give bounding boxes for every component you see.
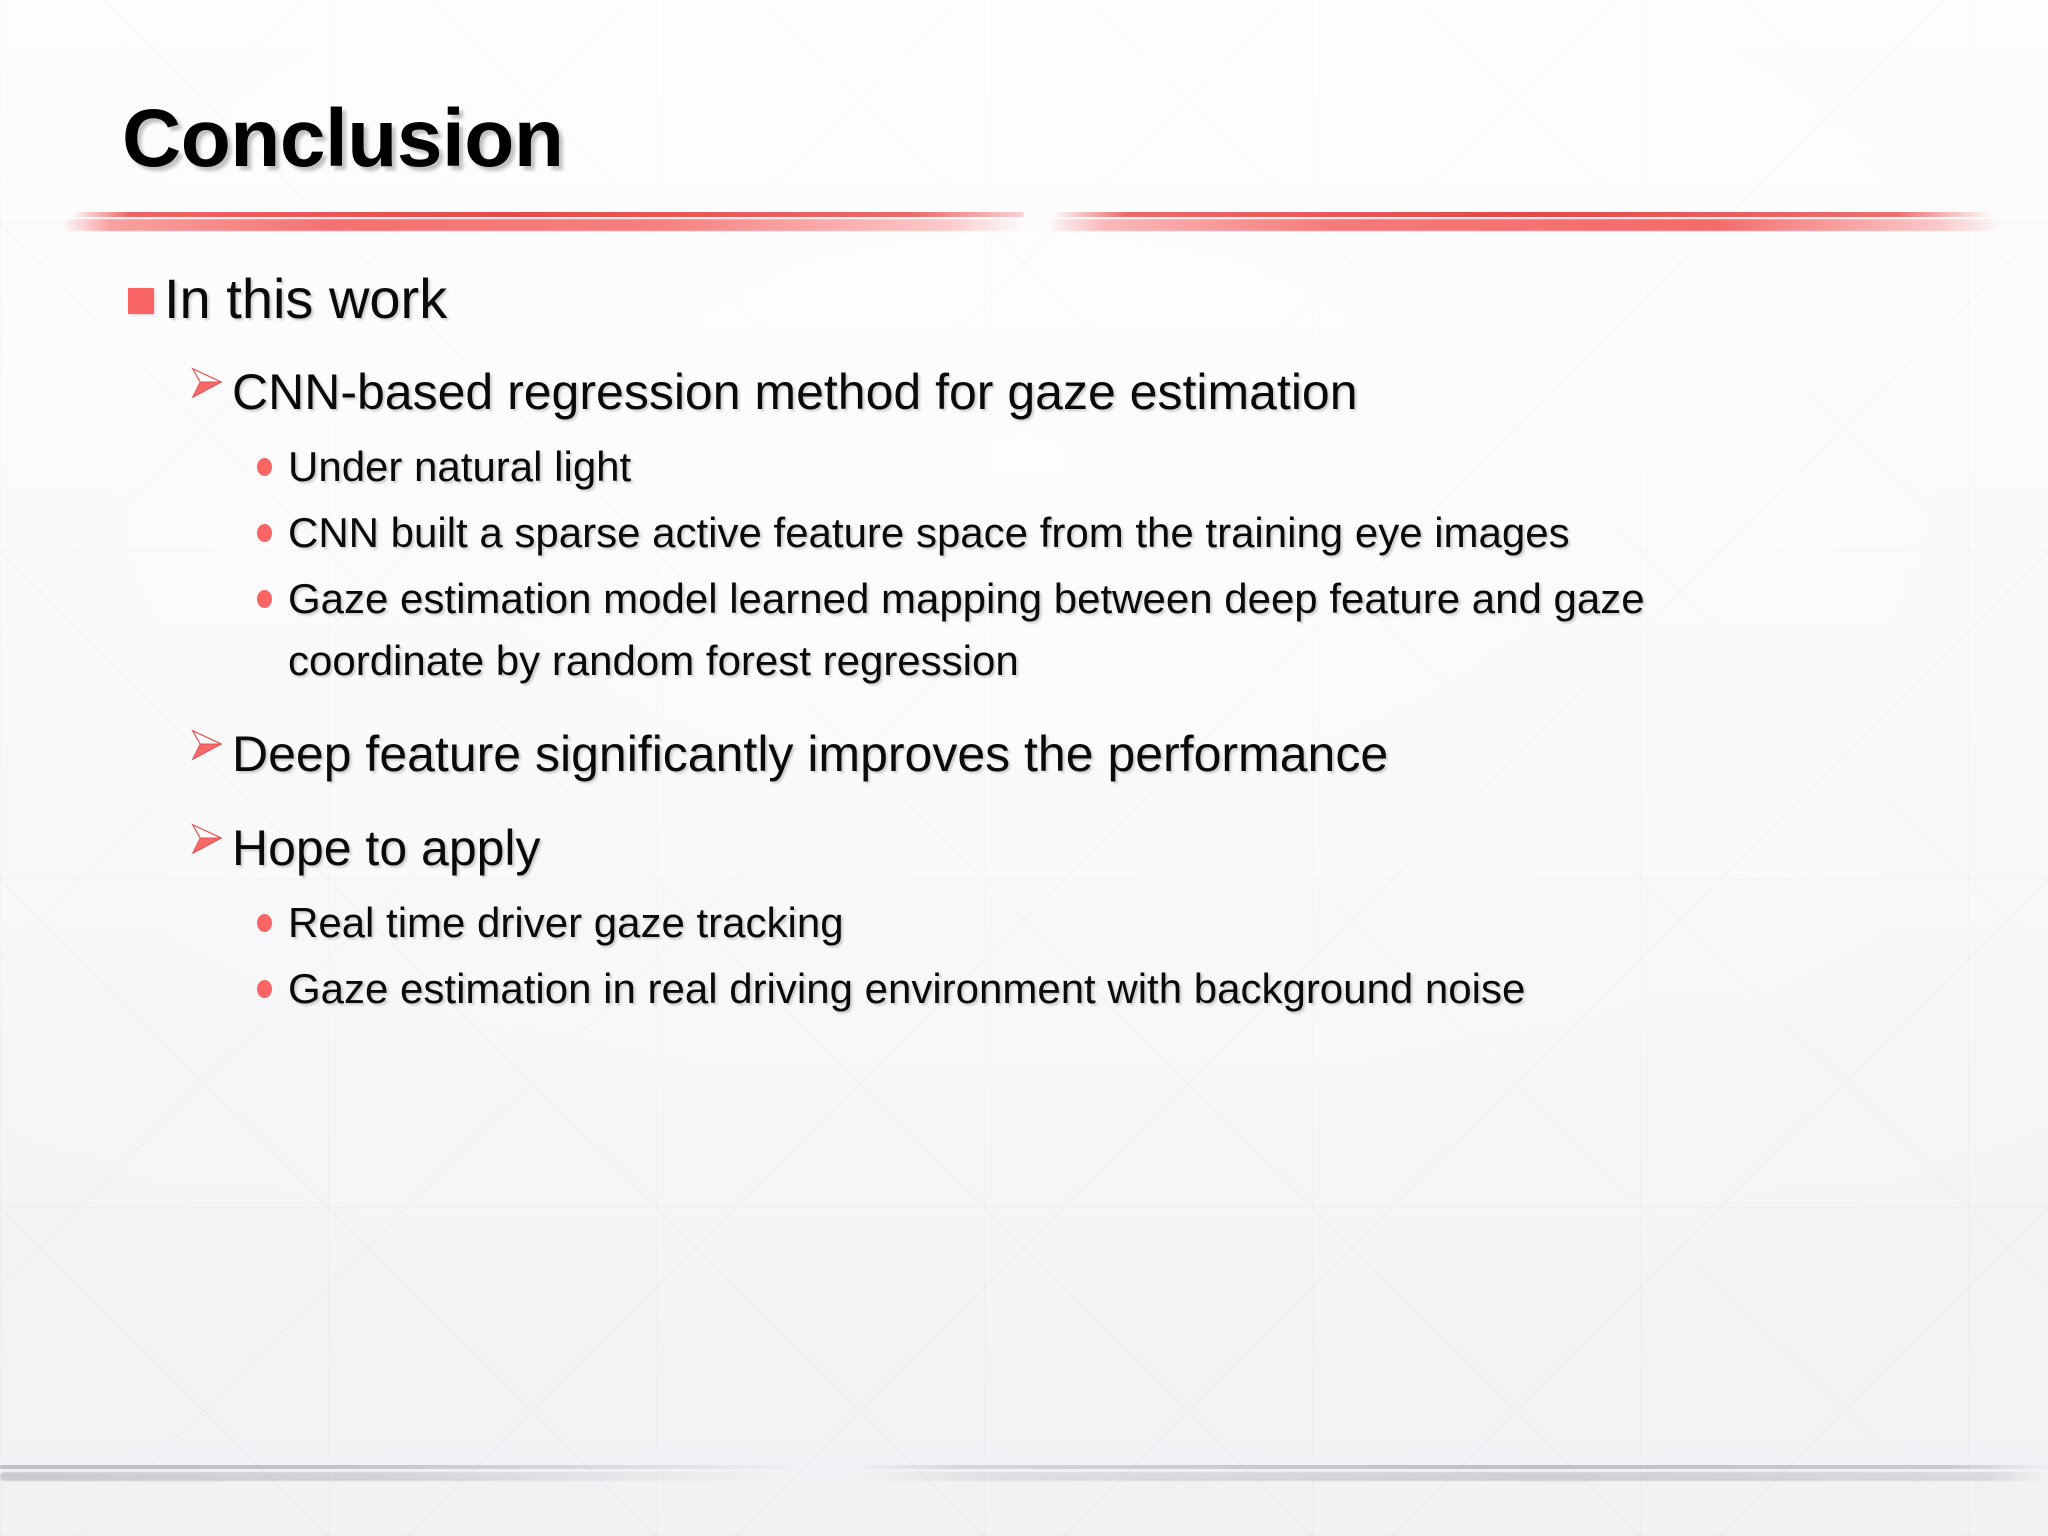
bullet-text: Hope to apply <box>232 812 541 884</box>
page-title: Conclusion <box>122 92 563 186</box>
bullet-text: Gaze estimation model learned mapping be… <box>288 568 1718 692</box>
footer-divider-segment-right <box>845 1462 2048 1484</box>
bullet-text: In this work <box>164 262 447 336</box>
arrow-bullet-icon <box>180 718 232 764</box>
square-bullet-icon <box>118 262 164 314</box>
bullet-level3-under-natural-light: Under natural light <box>240 436 2048 498</box>
dot-bullet-icon <box>240 892 288 932</box>
title-divider-thin-line-left <box>72 212 1024 217</box>
bullet-text: Gaze estimation in real driving environm… <box>288 958 1525 1020</box>
dot-bullet-icon <box>240 958 288 998</box>
title-divider-thick-line-left <box>62 219 1024 231</box>
dot-bullet-icon <box>240 502 288 542</box>
bullet-text: CNN-based regression method for gaze est… <box>232 356 1358 428</box>
title-divider-segment-right <box>1046 207 2004 233</box>
footer-divider-segment-left <box>0 1462 810 1484</box>
footer-divider-thin-line-left <box>0 1465 810 1469</box>
arrow-bullet-icon <box>180 812 232 858</box>
bullet-level3-real-time-driver-tracking: Real time driver gaze tracking <box>240 892 2048 954</box>
title-divider <box>0 207 2048 241</box>
slide-body: In this work CNN-based regression method… <box>0 262 2048 1024</box>
bullet-text: CNN built a sparse active feature space … <box>288 502 1570 564</box>
bullet-text: Real time driver gaze tracking <box>288 892 844 954</box>
title-divider-segment-left <box>62 207 1024 233</box>
bullet-level2-cnn-based-regression: CNN-based regression method for gaze est… <box>180 356 2048 428</box>
title-divider-thick-line-right <box>1046 219 2004 231</box>
footer-divider-thin-line-right <box>845 1465 2048 1469</box>
bullet-text: Under natural light <box>288 436 631 498</box>
title-divider-thin-line-right <box>1052 212 1992 217</box>
dot-bullet-icon <box>240 568 288 608</box>
footer-divider-thick-line-left <box>0 1472 800 1481</box>
bullet-level1-in-this-work: In this work <box>118 262 2048 336</box>
footer-divider-thick-line-right <box>855 1472 2045 1481</box>
bullet-level2-deep-feature-performance: Deep feature significantly improves the … <box>180 718 2048 790</box>
bullet-level3-gaze-estimation-model: Gaze estimation model learned mapping be… <box>240 568 2048 692</box>
bullet-level3-cnn-sparse-feature-space: CNN built a sparse active feature space … <box>240 502 2048 564</box>
bullet-text: Deep feature significantly improves the … <box>232 718 1388 790</box>
arrow-bullet-icon <box>180 356 232 402</box>
footer-divider <box>0 1462 2048 1492</box>
dot-bullet-icon <box>240 436 288 476</box>
slide-canvas: Conclusion In this work C <box>0 0 2048 1536</box>
bullet-level2-hope-to-apply: Hope to apply <box>180 812 2048 884</box>
bullet-level3-real-driving-environment: Gaze estimation in real driving environm… <box>240 958 2048 1020</box>
